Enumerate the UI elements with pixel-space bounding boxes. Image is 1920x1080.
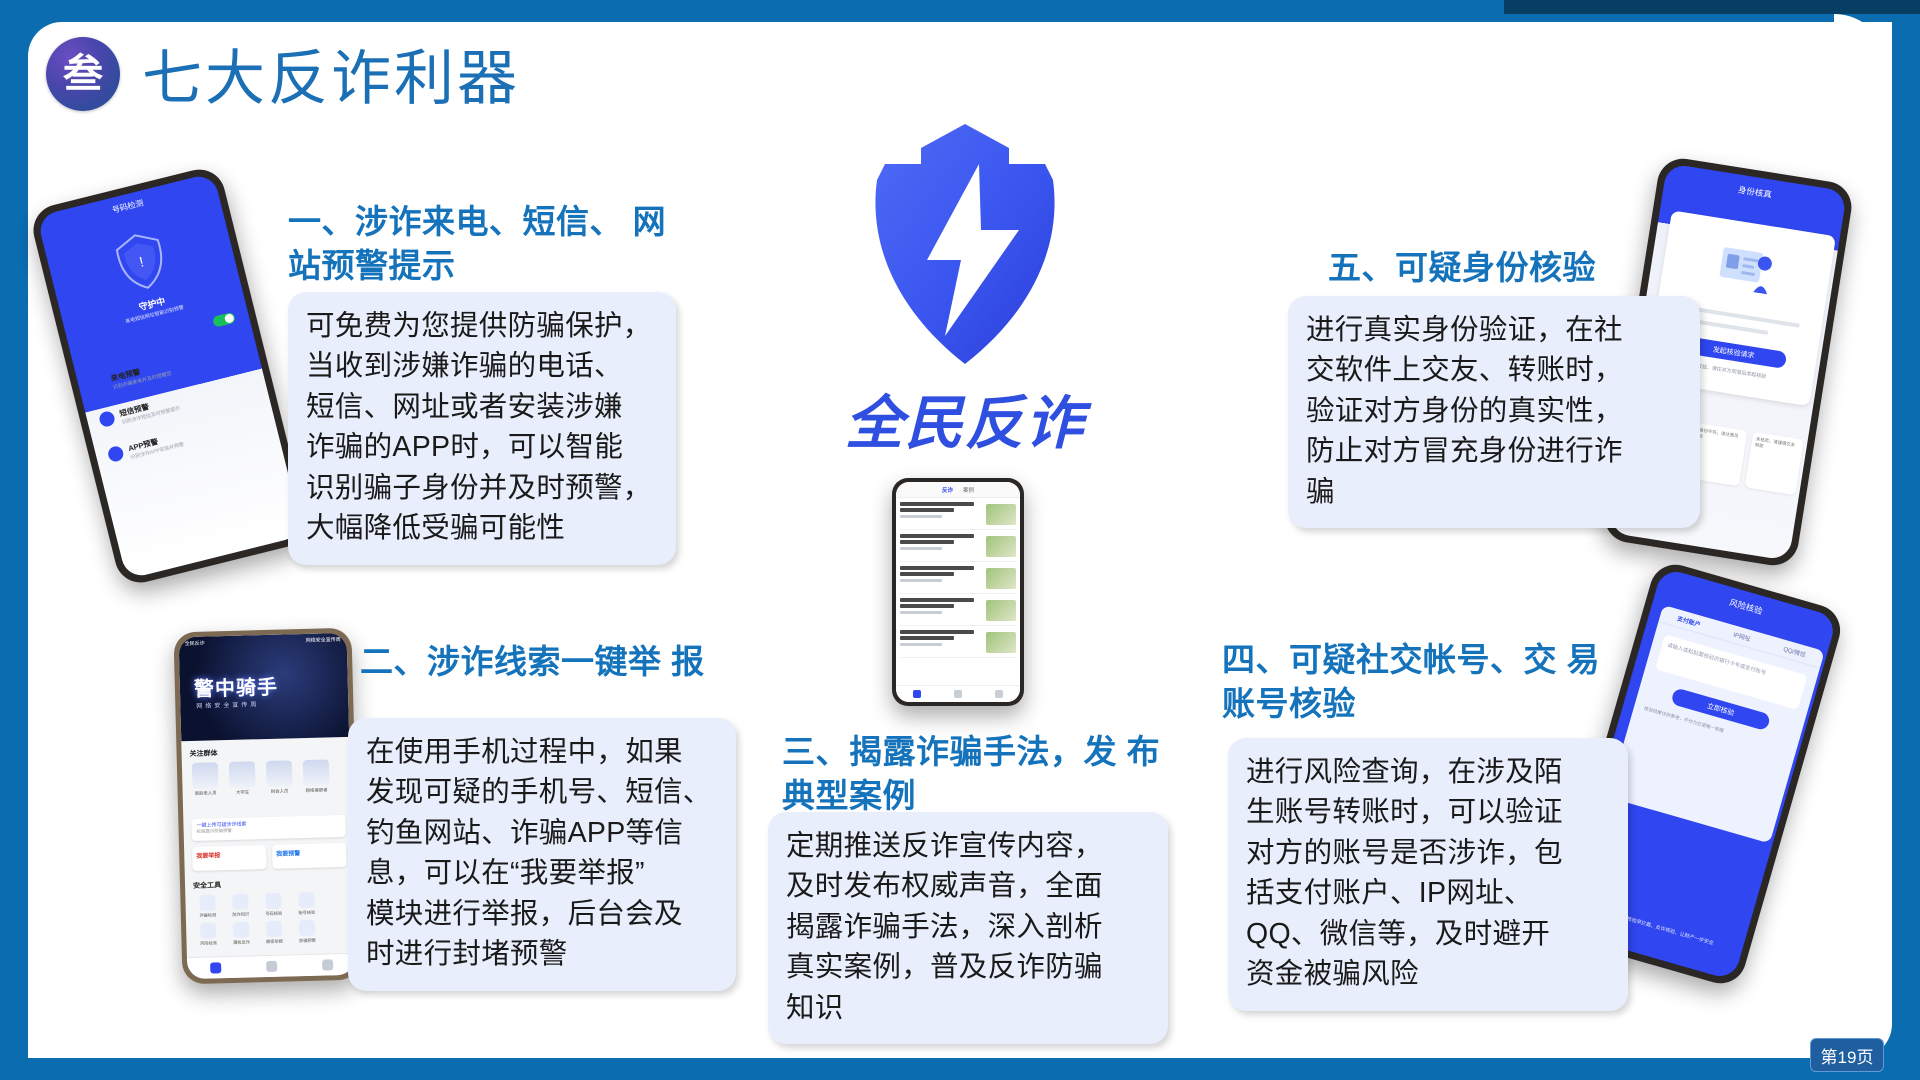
frame-right-band <box>1888 0 1920 1080</box>
section-number-badge: 叁 <box>46 37 120 111</box>
tab-profile-icon[interactable] <box>995 690 1003 698</box>
section-body-four: 进行风险查询，在涉及陌 生账号转账时，可以验证 对方的账号是否涉诈，包 括支付账… <box>1228 738 1628 1011</box>
tab-message-icon[interactable] <box>954 690 962 698</box>
phone2-poster-banner: 全民反诈 网络安全宣传周 警中骑手 网络安全宣传周 <box>179 633 350 741</box>
meta-bar <box>900 611 942 614</box>
thumbnail <box>986 536 1016 557</box>
phone2-follow-label: 财会人员 <box>265 788 295 795</box>
phone3-news-item[interactable] <box>900 502 1016 530</box>
phone2-tool-item[interactable]: 诈骗检测 <box>193 894 222 919</box>
phone2-follow-item[interactable]: 高龄老人员 <box>190 762 221 797</box>
tool-icon <box>233 922 249 938</box>
phone2-tool-item[interactable]: 号码核验 <box>259 892 288 917</box>
headline-bar <box>900 508 954 512</box>
section-heading-one: 一、涉诈来电、短信、 网站预警提示 <box>288 200 668 287</box>
phone2-warn-label: 我要预警 <box>276 847 342 858</box>
avatar <box>303 759 330 786</box>
tab-ip-url[interactable]: IP网址 <box>1732 630 1751 644</box>
frame-top-strip <box>1504 0 1920 14</box>
phone2-tool-label: 防骗预警 <box>299 938 316 943</box>
thumbnail <box>986 504 1016 525</box>
tab-payment-account[interactable]: 支付账户 <box>1676 613 1702 628</box>
meta-bar <box>900 579 942 582</box>
meta-bar <box>900 547 942 550</box>
tool-icon <box>265 893 281 909</box>
phone2-warn-button[interactable]: 我要预警 <box>272 843 347 869</box>
phone-icon <box>89 375 107 393</box>
phone2-brand: 全民反诈 <box>185 640 205 649</box>
thumbnail <box>986 568 1016 589</box>
phone2-follow-item[interactable]: 大学生 <box>227 761 258 796</box>
tool-icon <box>232 894 248 910</box>
id-card-person-icon <box>1710 234 1783 305</box>
tab-home-icon[interactable] <box>210 962 221 973</box>
headline-bar <box>900 572 954 576</box>
phone2-notice-card[interactable]: 一键上传可疑涉诈线索 权威提示防骗预警 <box>191 815 346 841</box>
phone-mockup-news-feed: 反诈 案例 <box>892 478 1024 706</box>
message-icon <box>98 410 116 428</box>
phone2-follow-item[interactable]: 财会人员 <box>264 760 295 795</box>
phone2-tool-label: 诈骗检测 <box>199 912 216 917</box>
tool-icon <box>266 921 282 937</box>
phone3-news-item[interactable] <box>900 534 1016 562</box>
phone3-screen: 反诈 案例 <box>896 482 1020 702</box>
shield-lightning-icon <box>849 120 1081 370</box>
phone2-status: 网络安全宣传周 <box>306 636 341 645</box>
tool-icon <box>200 922 216 938</box>
phone2-tool-item[interactable]: 防骗预警 <box>293 920 322 945</box>
headline-bar <box>900 534 974 538</box>
headline-bar <box>900 566 974 570</box>
section-heading-four: 四、可疑社交帐号、交 易账号核验 <box>1222 638 1622 725</box>
phone2-poster-tagline: 网络安全宣传周 <box>196 699 259 710</box>
phone2-tool-label: 防诈知识 <box>232 912 249 917</box>
slide-header: 叁 七大反诈利器 <box>46 30 520 117</box>
phone2-statusbar: 全民反诈 网络安全宣传周 <box>179 633 347 651</box>
phone2-tool-item[interactable]: 解密举报 <box>260 920 289 945</box>
section-body-five: 进行真实身份验证，在社 交软件上交友、转账时， 验证对方身份的真实性， 防止对方… <box>1288 296 1700 528</box>
frame-left-band <box>0 0 30 1080</box>
phone2-tool-label: 号码核验 <box>265 911 282 916</box>
phone2-tools-grid[interactable]: 诈骗检测 防诈知识 号码核验 账号核验 风险检测 骚扰反诈 解密举报 防骗预警 <box>193 891 348 947</box>
phone2-follow-label: 网络兼职者 <box>302 787 332 794</box>
app-icon <box>107 445 125 463</box>
phone3-tabs[interactable]: 反诈 案例 <box>896 482 1020 498</box>
phone3-tabbar[interactable] <box>896 685 1020 702</box>
tab-fanzha[interactable]: 反诈 <box>942 486 953 494</box>
phone3-news-item[interactable] <box>900 566 1016 594</box>
headline-bar <box>900 502 974 506</box>
phone2-tool-item[interactable]: 防诈知识 <box>226 893 255 918</box>
phone2-tool-label: 骚扰反诈 <box>233 939 250 944</box>
phone2-tool-item[interactable]: 风险检测 <box>194 922 223 947</box>
tool-icon <box>199 894 215 910</box>
page-number-badge: 第19页 <box>1810 1038 1884 1072</box>
brand-name: 全民反诈 <box>820 376 1110 460</box>
headline-bar <box>900 540 954 544</box>
tool-icon <box>299 920 315 936</box>
phone2-tool-label: 解密举报 <box>266 939 283 944</box>
tool-icon <box>298 892 314 908</box>
phone1-shield-icon: ! <box>110 227 173 295</box>
section-body-two: 在使用手机过程中，如果 发现可疑的手机号、短信、 钓鱼网站、诈骗APP等信 息，… <box>348 718 736 991</box>
phone3-news-item[interactable] <box>900 598 1016 626</box>
phone2-tool-item[interactable]: 骚扰反诈 <box>227 921 256 946</box>
tab-anli[interactable]: 案例 <box>963 486 974 494</box>
tab-message-icon[interactable] <box>266 961 277 972</box>
phone2-report-label: 我要举报 <box>196 849 262 860</box>
phone2-report-button[interactable]: 我要举报 <box>192 845 267 871</box>
slide-root: 叁 七大反诈利器 全民反诈 号码检测 ! 守护中 <box>0 0 1920 1080</box>
avatar <box>192 762 219 789</box>
thumbnail <box>986 600 1016 621</box>
section-body-one: 可免费为您提供防骗保护， 当收到涉嫌诈骗的电话、 短信、网址或者安装涉嫌 诈骗的… <box>288 292 676 565</box>
section-heading-five: 五、可疑身份核验 <box>1328 246 1668 290</box>
headline-bar <box>900 636 954 640</box>
tab-profile-icon[interactable] <box>322 959 333 970</box>
phone2-follow-label: 大学生 <box>228 789 258 796</box>
phone2-follow-grid[interactable]: 高龄老人员 大学生 财会人员 网络兼职者 <box>190 759 343 797</box>
phone-mockup-report-app: 全民反诈 网络安全宣传周 警中骑手 网络安全宣传周 关注群体 高龄老人员 大学生 <box>173 628 360 985</box>
phone2-follow-label: 高龄老人员 <box>191 790 221 797</box>
phone2-poster-title: 警中骑手 <box>193 671 278 702</box>
phone2-section-follow: 关注群体 <box>189 748 217 759</box>
phone2-tool-label: 风险检测 <box>200 940 217 945</box>
tab-qq-wechat[interactable]: QQ/微信 <box>1782 644 1807 659</box>
meta-bar <box>900 515 942 518</box>
phone2-tool-item[interactable]: 账号核验 <box>292 892 321 917</box>
headline-bar <box>900 598 974 602</box>
avatar <box>229 761 256 788</box>
thumbnail <box>986 632 1016 653</box>
meta-bar <box>900 643 942 646</box>
phone1-protection-toggle[interactable] <box>212 312 236 328</box>
phone2-section-tools: 安全工具 <box>193 880 221 891</box>
page-title: 七大反诈利器 <box>142 30 520 117</box>
section-body-three: 定期推送反诈宣传内容， 及时发布权威声音，全面 揭露诈骗手法，深入剖析 真实案例… <box>768 812 1168 1044</box>
brand-logo: 全民反诈 <box>820 120 1110 460</box>
phone2-follow-item[interactable]: 网络兼职者 <box>301 759 332 794</box>
headline-bar <box>900 630 974 634</box>
avatar <box>266 760 293 787</box>
tab-home-icon[interactable] <box>913 690 921 698</box>
phone3-news-item[interactable] <box>900 630 1016 658</box>
phone2-screen: 全民反诈 网络安全宣传周 警中骑手 网络安全宣传周 关注群体 高龄老人员 大学生 <box>179 633 356 979</box>
phone2-tabbar[interactable] <box>187 953 356 979</box>
phone4-result-card: 未核验，请谨慎交友转账 <box>1744 432 1803 495</box>
section-heading-three: 三、揭露诈骗手法，发 布典型案例 <box>782 730 1182 817</box>
headline-bar <box>900 604 954 608</box>
phone2-tool-label: 账号核验 <box>298 910 315 915</box>
section-heading-two: 二、涉诈线索一键举 报 <box>360 640 720 684</box>
